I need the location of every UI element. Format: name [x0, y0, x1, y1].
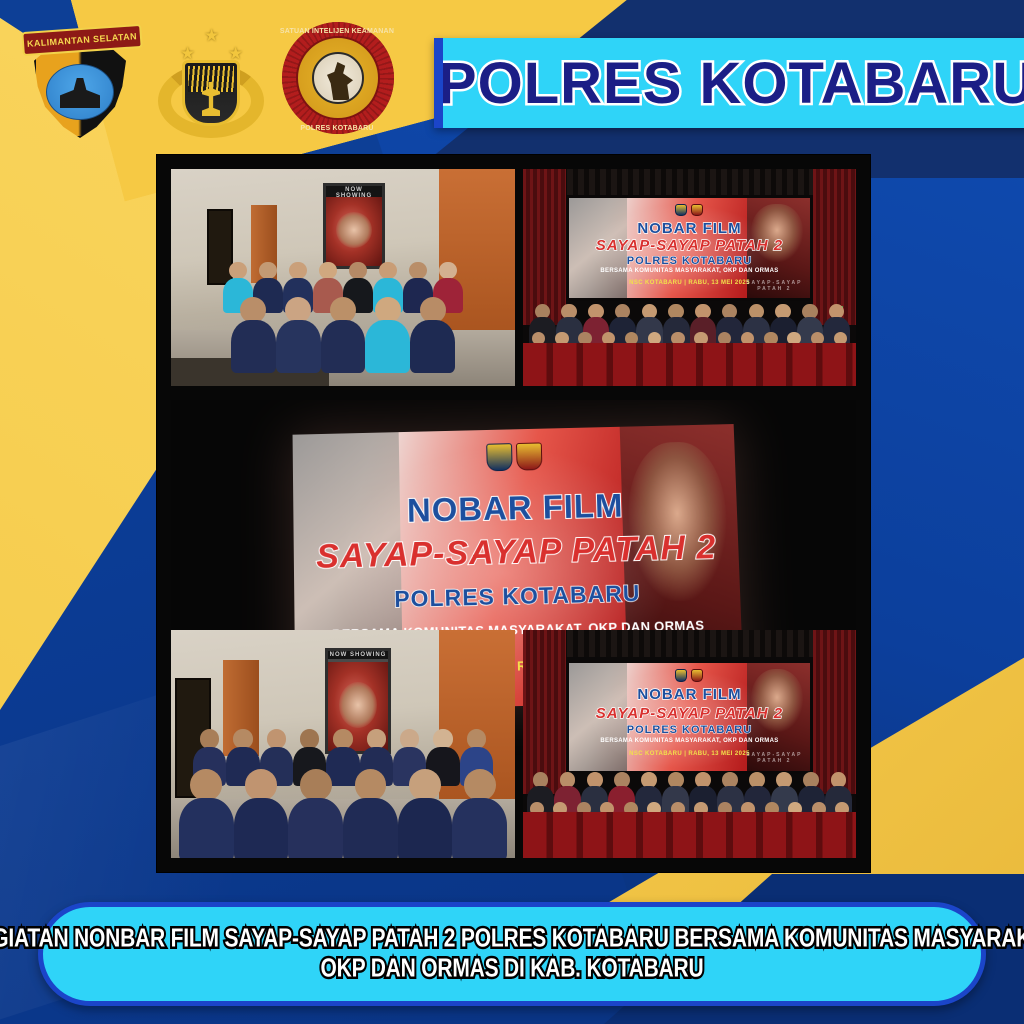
screen-banner-artwork: NOBAR FILM SAYAP-SAYAP PATAH 2 POLRES KO… — [569, 663, 809, 771]
polri-tribrata-emblem-icon: ★ ★ ★ — [152, 20, 270, 142]
kalimantan-selatan-police-shield-icon: KALIMANTAN SELATAN — [8, 20, 148, 142]
banner-watermark-line2: PATAH 2 — [746, 758, 802, 764]
badge-core — [312, 52, 364, 104]
banner-badge-polri-icon — [675, 669, 687, 682]
banner-badge-polri-icon — [675, 204, 687, 216]
banner-subtitle: POLRES KOTABARU — [569, 255, 809, 267]
badge-figure-icon — [327, 62, 353, 100]
caption-banner: KEGIATAN NONBAR FILM SAYAP-SAYAP PATAH 2… — [38, 902, 986, 1006]
banner-title-line2: SAYAP-SAYAP PATAH 2 — [569, 237, 809, 254]
person — [452, 769, 507, 858]
photo-bottom-left: NOW SHOWING — [171, 630, 515, 858]
person — [398, 769, 453, 858]
shield-ribbon-label: KALIMANTAN SELATAN — [27, 31, 138, 49]
cinema-seats — [523, 812, 856, 858]
screen-banner-artwork: NOBAR FILM SAYAP-SAYAP PATAH 2 POLRES KO… — [569, 198, 809, 298]
cinema-ceiling — [523, 630, 856, 657]
banner-title-line1: NOBAR FILM — [569, 686, 809, 703]
logo-group: KALIMANTAN SELATAN ★ ★ ★ SATUAN INTELIJE… — [8, 18, 400, 144]
banner-title-line2: SAYAP-SAYAP PATAH 2 — [569, 705, 809, 722]
person — [179, 769, 234, 858]
satuan-intelijen-keamanan-badge-icon: SATUAN INTELIJEN KEAMANAN POLRES KOTABAR… — [274, 18, 400, 144]
cinema-curtain-right — [813, 630, 856, 794]
banner-badge-intel-icon — [516, 443, 543, 471]
cinema-curtain-left — [523, 630, 566, 794]
banner-badge-intel-icon — [691, 669, 703, 682]
cinema-screen: NOBAR FILM SAYAP-SAYAP PATAH 2 POLRES KO… — [566, 195, 812, 301]
crowd-row-front — [171, 289, 515, 373]
person — [234, 769, 289, 858]
star-icon-top: ★ — [204, 26, 219, 46]
caption-line-2: OKP DAN ORMAS DI KAB. KOTABARU — [321, 950, 704, 988]
cinema-seats — [523, 343, 856, 386]
photo-top-right: NOBAR FILM SAYAP-SAYAP PATAH 2 POLRES KO… — [523, 169, 856, 386]
now-showing-label: NOW SHOWING — [328, 651, 388, 659]
cinema-ceiling — [523, 169, 856, 195]
crowd-row-front — [171, 770, 515, 858]
title-plate: POLRES KOTABARU — [434, 38, 1024, 128]
person — [365, 297, 410, 373]
banner-badge-polri-icon — [486, 443, 512, 471]
photo-top-left: NOW SHOWING — [171, 169, 515, 386]
banner-watermark: SAYAP-SAYAP PATAH 2 — [746, 752, 802, 764]
banner-title-line1: NOBAR FILM — [569, 220, 809, 237]
cinema-curtain-left — [523, 169, 566, 325]
person — [410, 297, 455, 373]
banner-partners: BERSAMA KOMUNITAS MASYARAKAT, OKP DAN OR… — [569, 738, 809, 744]
person — [231, 297, 276, 373]
banner-watermark: SAYAP-SAYAP PATAH 2 — [746, 280, 802, 292]
page-title: POLRES KOTABARU — [438, 50, 1024, 117]
person — [321, 297, 366, 373]
banner-partners: BERSAMA KOMUNITAS MASYARAKAT, OKP DAN OR… — [569, 268, 809, 274]
cinema-screen: NOBAR FILM SAYAP-SAYAP PATAH 2 POLRES KO… — [566, 660, 812, 774]
photo-bottom-right: NOBAR FILM SAYAP-SAYAP PATAH 2 POLRES KO… — [523, 630, 856, 858]
person — [343, 769, 398, 858]
banner-subtitle: POLRES KOTABARU — [569, 724, 809, 736]
banner-badges — [569, 669, 809, 682]
shield-ribbon: KALIMANTAN SELATAN — [21, 24, 142, 56]
photo-collage-panel: NOW SHOWING — [157, 155, 870, 872]
banner-badges — [569, 204, 809, 216]
badge-top-text: SATUAN INTELIJEN KEAMANAN — [274, 28, 400, 35]
header: KALIMANTAN SELATAN ★ ★ ★ SATUAN INTELIJE… — [0, 0, 1024, 150]
banner-badge-intel-icon — [691, 204, 703, 216]
badge-bottom-text: POLRES KOTABARU — [274, 125, 400, 132]
person — [288, 769, 343, 858]
person — [276, 297, 321, 373]
cinema-curtain-right — [813, 169, 856, 325]
banner-watermark-line2: PATAH 2 — [746, 286, 802, 292]
